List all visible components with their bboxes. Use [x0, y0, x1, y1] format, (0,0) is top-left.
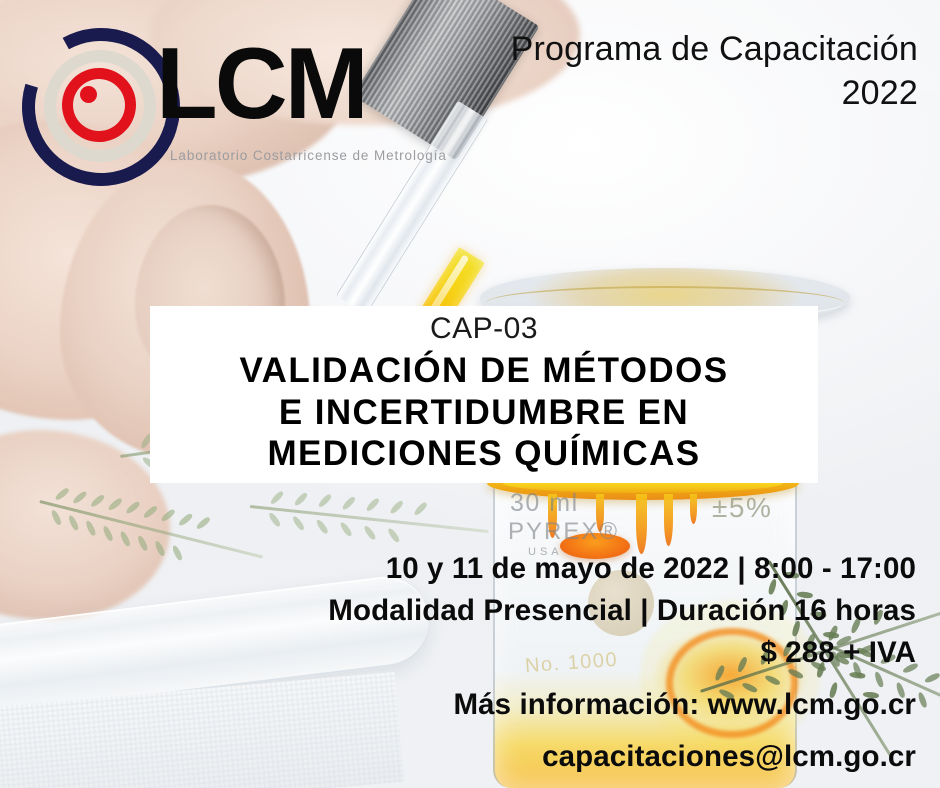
beaker-drip-4 — [664, 494, 673, 546]
beaker-drip-3 — [636, 494, 647, 554]
logo-tagline: Laboratorio Costarricense de Metrología — [170, 148, 447, 163]
logo-wordmark: LCM — [156, 38, 366, 131]
course-headline: VALIDACIÓN DE MÉTODOS E INCERTIDUMBRE EN… — [150, 350, 818, 475]
program-header: Programa de Capacitación 2022 — [398, 28, 918, 115]
poster-root: 30 ml PYREX® USA ±5% No. 1000 — [0, 0, 940, 788]
beaker-brand-label: PYREX® — [508, 518, 619, 546]
detail-modality-duration: Modalidad Presencial | Duración 16 horas — [176, 590, 916, 632]
course-code: CAP-03 — [150, 312, 818, 346]
detail-website[interactable]: Más información: www.lcm.go.cr — [176, 684, 916, 726]
course-headline-line-1: VALIDACIÓN DE MÉTODOS — [150, 350, 818, 392]
beaker-volume-label: 30 ml — [510, 489, 579, 518]
target-rings-icon — [18, 24, 158, 164]
program-title: Programa de Capacitación — [398, 28, 918, 72]
detail-dates-time: 10 y 11 de mayo de 2022 | 8:00 - 17:00 — [176, 548, 916, 590]
course-details: 10 y 11 de mayo de 2022 | 8:00 - 17:00 M… — [176, 548, 916, 777]
detail-price: $ 288 + IVA — [176, 632, 916, 674]
program-year: 2022 — [398, 72, 918, 116]
beaker-tolerance-label: ±5% — [712, 492, 772, 524]
course-headline-line-3: MEDICIONES QUÍMICAS — [150, 433, 818, 475]
course-headline-line-2: E INCERTIDUMBRE EN — [150, 392, 818, 434]
lcm-logo: LCM Laboratorio Costarricense de Metrolo… — [18, 16, 378, 166]
detail-email[interactable]: capacitaciones@lcm.go.cr — [176, 736, 916, 778]
beaker-drip-5 — [690, 494, 697, 524]
course-title-card: CAP-03 VALIDACIÓN DE MÉTODOS E INCERTIDU… — [150, 306, 818, 483]
bullseye-center-dot — [80, 86, 97, 103]
